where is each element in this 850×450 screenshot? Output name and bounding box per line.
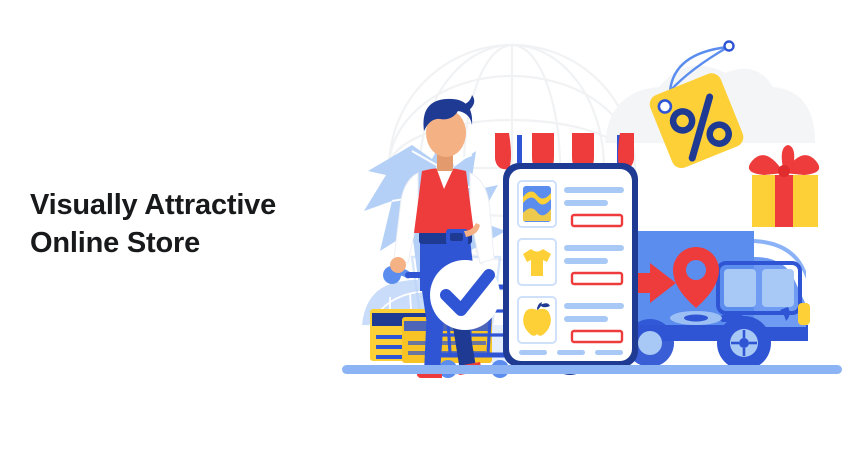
headline-line-2: Online Store xyxy=(30,224,350,262)
bottom-nav[interactable] xyxy=(519,350,623,355)
location-pin-icon xyxy=(670,247,722,325)
hero-illustration xyxy=(320,25,850,425)
ground-line xyxy=(342,365,842,374)
headline-line-1: Visually Attractive xyxy=(30,186,350,224)
delivery-truck xyxy=(618,231,810,370)
gift-box xyxy=(749,145,819,227)
page-title: Visually Attractive Online Store xyxy=(30,186,350,262)
promo-banner: Visually Attractive Online Store xyxy=(0,0,850,450)
check-badge xyxy=(430,260,500,330)
storefront-phone xyxy=(495,133,638,375)
discount-tag xyxy=(647,42,747,172)
